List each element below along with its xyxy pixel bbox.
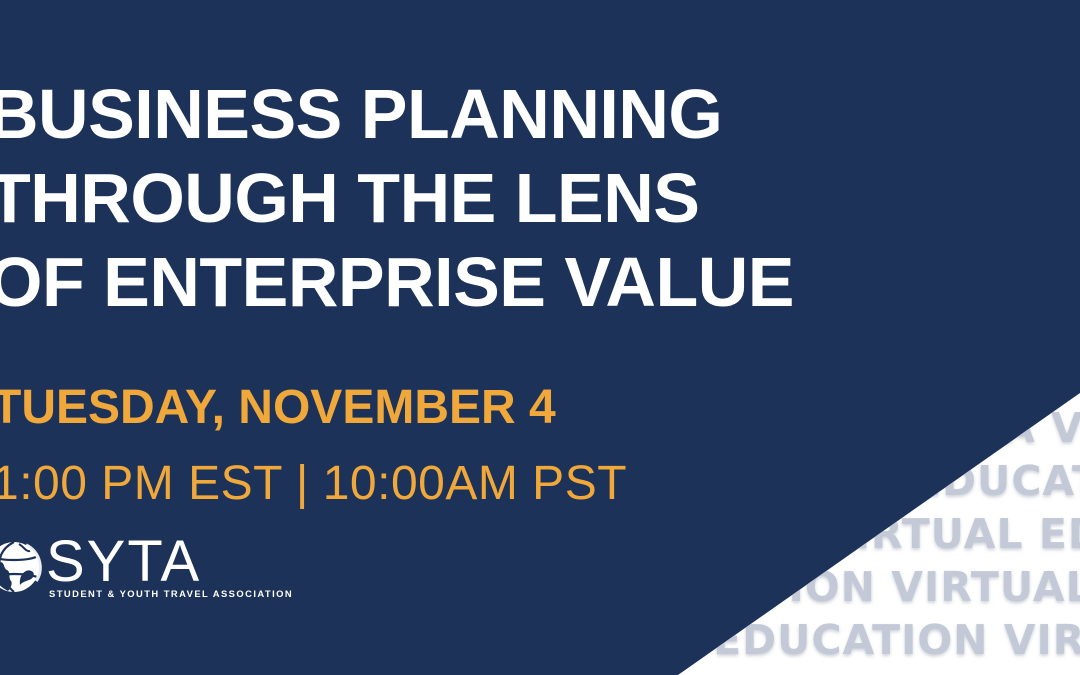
- event-time: 1:00 PM EST | 10:00AM PST: [0, 446, 627, 522]
- watermark-row: EDUCATION VIRTUAL EDUCATION: [913, 457, 1080, 505]
- watermark-row: A VIRTUAL EDUCATION VIRTUAL: [1003, 404, 1080, 452]
- title-line-1: BUSINESS PLANNING: [0, 72, 998, 156]
- watermark-row: VIRTUAL EDUCATION VIRTUAL EDU: [822, 510, 1080, 558]
- watermark-row: AL EDUCATION VIRTUAL EDUCATION: [638, 616, 1080, 664]
- logo-tagline: STUDENT & YOUTH TRAVEL ASSOCIATION: [49, 588, 293, 600]
- page-title: BUSINESS PLANNING THROUGH THE LENS OF EN…: [0, 72, 998, 324]
- syta-logo: SYTA STUDENT & YOUTH TRAVEL ASSOCIATION: [0, 533, 293, 600]
- logo-text-block: SYTA STUDENT & YOUTH TRAVEL ASSOCIATION: [46, 533, 293, 600]
- webinar-promo-banner: A VIRTUAL EDUCATION VIRTUAL EDUCATION VI…: [0, 0, 1080, 675]
- watermark-row: ATION VIRTUAL EDUCATION VIRTUAL: [730, 563, 1080, 611]
- globe-icon: [0, 535, 50, 599]
- logo-wordmark: SYTA: [46, 533, 293, 591]
- title-line-3: OF ENTERPRISE VALUE: [0, 240, 998, 324]
- title-line-2: THROUGH THE LENS: [0, 156, 998, 240]
- event-date: TUESDAY, NOVEMBER 4: [0, 370, 627, 446]
- event-schedule: TUESDAY, NOVEMBER 4 1:00 PM EST | 10:00A…: [0, 370, 627, 522]
